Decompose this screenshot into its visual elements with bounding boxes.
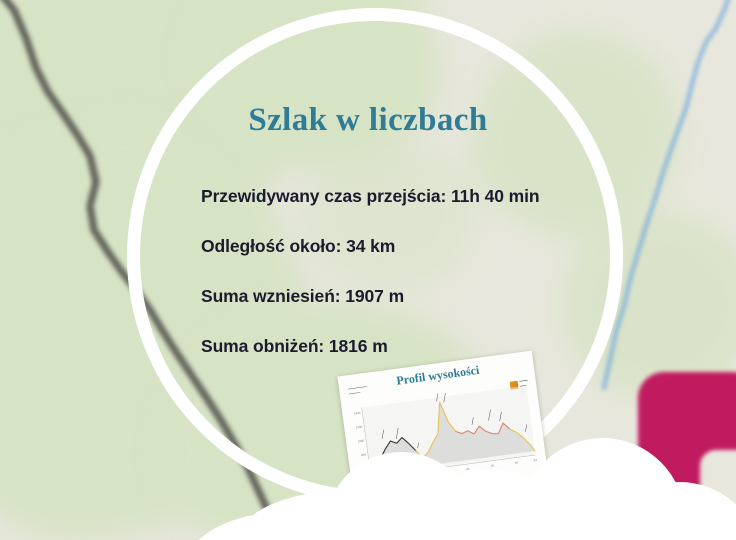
stat-ascent: Suma wzniesień: 1907 m — [201, 286, 404, 307]
svg-text:34: 34 — [533, 458, 537, 462]
page-title: Szlak w liczbach — [0, 102, 736, 139]
trail-summary-graphic: Szlak w liczbach Przewidywany czas przej… — [0, 0, 736, 540]
stat-duration: Przewidywany czas przejścia: 11h 40 min — [201, 186, 540, 207]
svg-text:1200: 1200 — [356, 425, 363, 430]
svg-text:30: 30 — [514, 460, 518, 464]
svg-text:1000: 1000 — [357, 439, 364, 444]
stat-descent: Suma obniżeń: 1816 m — [201, 336, 388, 357]
stat-distance: Odległość około: 34 km — [201, 236, 395, 257]
profile-card-subtitle: ━━━━━━━━━━ ━━━━━━ — [348, 385, 368, 397]
svg-text:25: 25 — [491, 464, 495, 468]
svg-text:1400: 1400 — [354, 411, 361, 416]
svg-text:800: 800 — [361, 452, 367, 457]
profile-card-title: Profil wysokości — [396, 363, 481, 389]
